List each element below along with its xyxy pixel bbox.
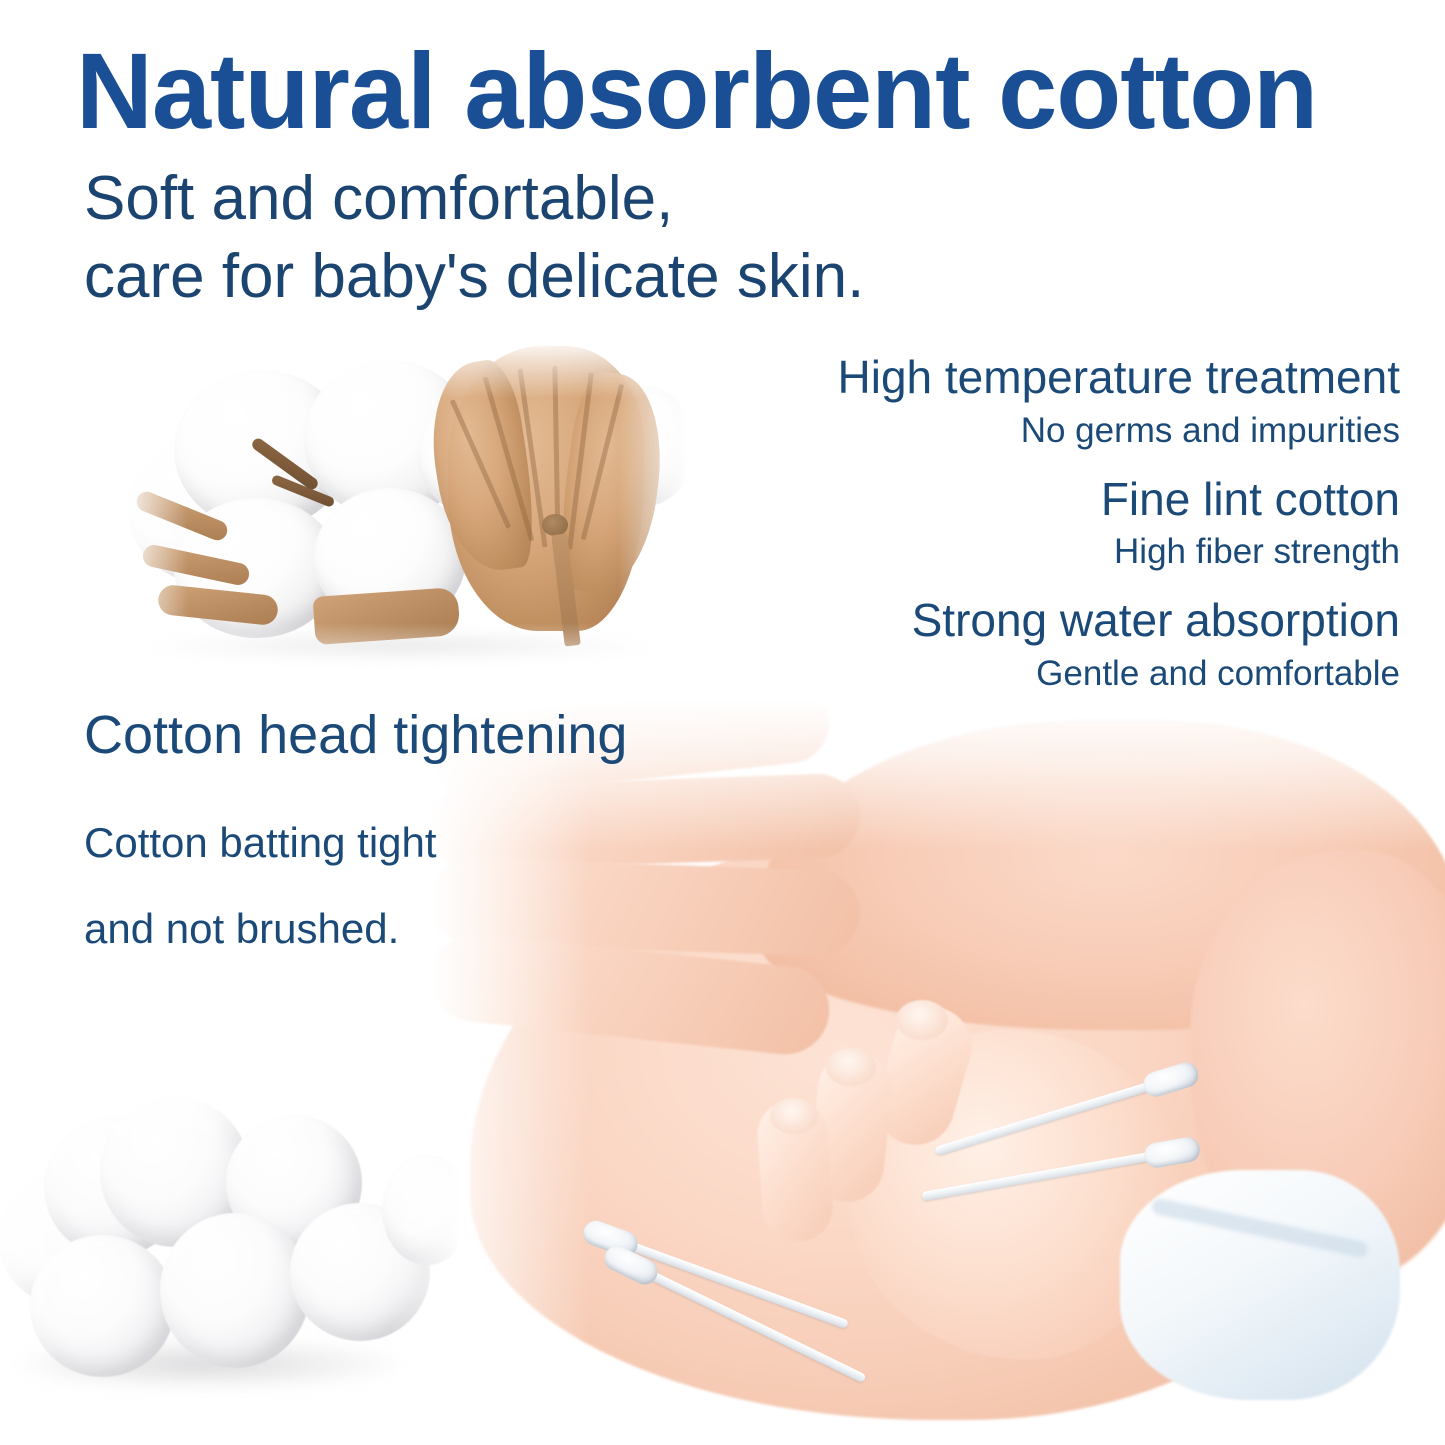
boll-sepal — [313, 587, 461, 645]
cotton-ball — [30, 1235, 175, 1377]
feature-title-fine-lint-cotton: Fine lint cotton — [640, 474, 1400, 526]
page-subtitle: Soft and comfortable, care for baby's de… — [84, 160, 1084, 316]
cotton-ball — [160, 1213, 310, 1368]
baby-fingernail — [896, 1000, 948, 1040]
section-title-cotton-head-tightening: Cotton head tightening — [84, 706, 627, 765]
feature-list: High temperature treatment No germs and … — [640, 352, 1400, 695]
feature-subtitle-no-germs-and-impurities: No germs and impurities — [640, 410, 1400, 452]
cotton-boll-photo — [118, 338, 688, 683]
feature-title-strong-water-absorption: Strong water absorption — [640, 595, 1400, 647]
subtitle-line-2: care for baby's delicate skin. — [84, 238, 1084, 316]
baby-fingernail — [770, 1098, 818, 1134]
baby-fingernail — [826, 1048, 876, 1086]
husk-center — [542, 514, 568, 536]
page-headline: Natural absorbent cotton — [76, 36, 1396, 146]
product-marketing-banner: Natural absorbent cotton Soft and comfor… — [0, 0, 1445, 1445]
feature-subtitle-gentle-and-comfortable: Gentle and comfortable — [640, 653, 1400, 695]
feature-subtitle-high-fiber-strength: High fiber strength — [640, 531, 1400, 573]
subtitle-line-1: Soft and comfortable, — [84, 160, 1084, 238]
feature-title-high-temperature-treatment: High temperature treatment — [640, 352, 1400, 404]
cotton-balls-photo — [0, 1085, 460, 1445]
section-body-line-1: Cotton batting tight — [84, 800, 644, 886]
section-body-cotton-head-tightening: Cotton batting tight and not brushed. — [84, 800, 644, 972]
section-body-line-2: and not brushed. — [84, 886, 644, 972]
